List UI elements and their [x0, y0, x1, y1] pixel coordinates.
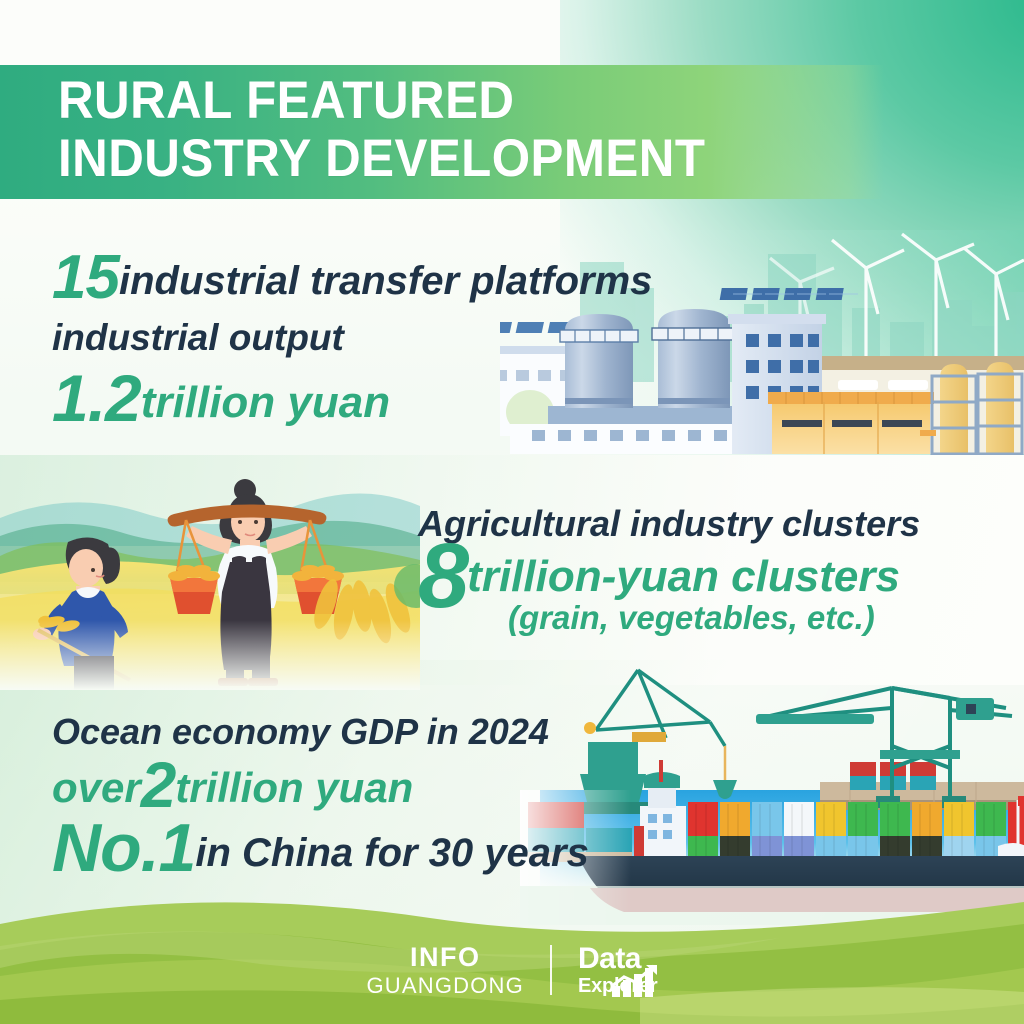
stat1-unit: trillion yuan [141, 378, 390, 427]
bar-chart-arrow-up-icon [610, 964, 662, 998]
solar-panel-icon [720, 288, 858, 300]
stat3-line3: No.1in China for 30 years [52, 817, 589, 884]
page-title: RURAL FEATURED INDUSTRY DEVELOPMENT [58, 72, 858, 188]
stat1-line1: 15industrial transfer platforms [52, 248, 652, 311]
stat1-number-15: 15 [52, 243, 119, 312]
stat1-line2: industrial output [52, 311, 652, 365]
stat3-line2: over2trillion yuan [52, 756, 589, 817]
title-line-1: RURAL FEATURED [58, 72, 858, 130]
stat-ocean-economy: Ocean economy GDP in 2024 over2trillion … [52, 708, 589, 884]
stat2-unit: trillion-yuan clusters [467, 552, 900, 601]
data-explorer-logo[interactable]: Data Explorer [578, 944, 658, 996]
stat2-line2: 8trillion-yuan clusters [418, 552, 920, 601]
farm-illustration [0, 470, 420, 690]
warehouse [768, 392, 934, 454]
stat2-number-8: 8 [418, 525, 467, 627]
info-logo-line-2: GUANGDONG [366, 975, 523, 997]
infographic-poster: RURAL FEATURED INDUSTRY DEVELOPMENT 15in… [0, 0, 1024, 1024]
footer-logos: INFO GUANGDONG Data Explorer [0, 938, 1024, 1002]
storage-tank-2 [652, 309, 736, 408]
stat3-suffix: in China for 30 years [195, 831, 588, 875]
logo-divider [550, 945, 552, 995]
stat1-label: industrial transfer platforms [119, 259, 652, 303]
title-line-2: INDUSTRY DEVELOPMENT [58, 130, 858, 188]
stat-agricultural-clusters: Agricultural industry clusters 8trillion… [418, 500, 920, 639]
info-guangdong-logo[interactable]: INFO GUANGDONG [366, 944, 523, 997]
stat3-prefix: over [52, 764, 141, 811]
stat-industrial-transfer: 15industrial transfer platforms industri… [52, 248, 652, 436]
stat2-line1: Agricultural industry clusters [418, 500, 920, 548]
stat1-number-1-2: 1.2 [52, 361, 141, 435]
stat3-line1: Ocean economy GDP in 2024 [52, 708, 589, 756]
stat2-line3: (grain, vegetables, etc.) [508, 597, 920, 639]
stat1-line3: 1.2trillion yuan [52, 365, 652, 436]
stat3-unit: trillion yuan [175, 764, 413, 811]
info-logo-line-1: INFO [366, 944, 523, 971]
stat3-number-no1: No.1 [52, 810, 195, 886]
